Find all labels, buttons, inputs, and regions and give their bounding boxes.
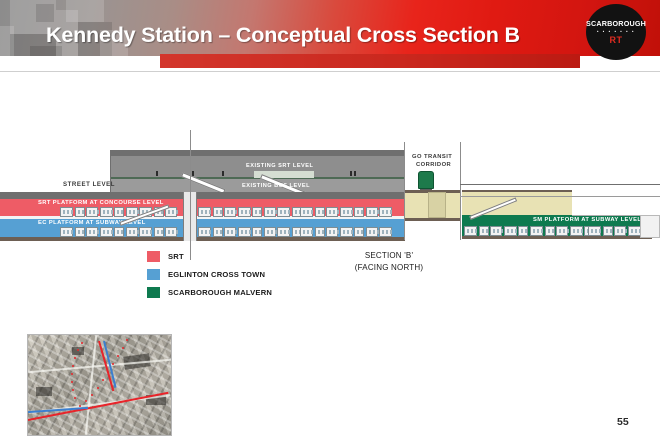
train-car [154,227,164,237]
person-figure [156,171,158,176]
logo-wordmark: SCARBOROUGH [586,19,646,28]
train-car [252,227,262,237]
train-car [326,207,338,217]
person-figure [350,171,352,176]
sm-platform-label: SM PLATFORM AT SUBWAY LEVEL [533,217,641,223]
train-car [139,227,152,237]
legend-swatch-eglinton-cross-town [147,269,160,280]
train-car [366,207,378,217]
train-car [75,207,85,217]
banner-block-4 [36,4,54,22]
person-figure [222,171,224,176]
train-car [628,226,641,236]
right-grade-line [460,184,660,185]
existing-bus-level-label: EXISTING BUS LEVEL [242,183,310,189]
train-car [340,207,353,217]
train-car [213,227,223,237]
train-car [277,227,290,237]
train-car [588,226,601,236]
train-car [224,207,236,217]
existing-srt-level-label: EXISTING SRT LEVEL [246,163,313,169]
legend-swatch-srt [147,251,160,262]
train-car [114,207,124,217]
go-corridor-base [405,218,460,221]
train-car [114,227,124,237]
train-car [100,207,113,217]
train-car [354,227,364,237]
train-car [75,227,85,237]
legend-swatch-scarborough-malvern [147,287,160,298]
street-level-label: STREET LEVEL [63,181,115,188]
train-car [126,227,138,237]
legend-label-srt: SRT [168,252,184,261]
section-centerline [190,130,191,260]
train-car [60,207,73,217]
train-car [165,227,177,237]
legend: SRT EGLINTON CROSS TOWN SCARBOROUGH MALV… [147,249,272,303]
logo-dots-icon: • • • • • • • [597,29,635,34]
go-corridor-right-edge [460,142,461,240]
scarborough-rt-logo: SCARBOROUGH • • • • • • • RT [586,4,646,60]
train-car [300,207,313,217]
train-car [614,226,626,236]
cross-section-diagram: EXISTING SRT LEVEL EXISTING BUS LEVEL ST… [0,130,660,250]
legend-item-eglinton-cross-town: EGLINTON CROSS TOWN [147,267,272,282]
train-car [479,226,489,236]
train-car [315,207,325,217]
train-car [545,226,555,236]
train-car [518,226,528,236]
train-car [264,207,276,217]
train-car [238,207,251,217]
go-corridor-stair [428,192,446,218]
logo-rt-text: RT [610,35,623,45]
srt-platform-label: SRT PLATFORM AT CONCOURSE LEVEL [38,200,164,206]
train-car [556,226,568,236]
train-car [198,207,211,217]
header-banner: Kennedy Station – Conceptual Cross Secti… [0,0,660,68]
legend-item-srt: SRT [147,249,272,264]
train-car [603,226,613,236]
train-car [198,227,211,237]
go-transit-corridor-label-line2: CORRIDOR [416,162,451,168]
train-car [86,227,98,237]
section-note: SECTION 'B' (FACING NORTH) [334,250,444,274]
train-car [238,227,251,237]
map-route-dotted [28,335,171,435]
legend-label-scarborough-malvern: SCARBOROUGH MALVERN [168,288,272,297]
person-figure [354,171,356,176]
train-car [60,227,73,237]
train-car [100,227,113,237]
train-car [300,227,313,237]
train-car [490,226,502,236]
train-car [570,226,583,236]
train-car [86,207,98,217]
go-transit-corridor-label-line1: GO TRANSIT [412,154,452,160]
legend-item-scarborough-malvern: SCARBOROUGH MALVERN [147,285,272,300]
train-car [277,207,290,217]
sm-station-top-slab [462,190,572,192]
train-car [213,207,223,217]
go-train-car-icon [418,171,434,189]
train-car [354,207,364,217]
train-car [379,227,392,237]
banner-block-7 [0,26,14,58]
train-car [464,226,477,236]
right-upper-line [460,196,660,197]
page-title: Kennedy Station – Conceptual Cross Secti… [46,23,520,48]
banner-block-5 [66,0,104,22]
aerial-key-map [27,334,172,436]
right-edge-box [640,215,660,238]
train-car [252,207,262,217]
train-car [504,226,517,236]
train-car [379,207,392,217]
legend-label-eglinton-cross-town: EGLINTON CROSS TOWN [168,270,265,279]
train-car [264,227,276,237]
train-car [315,227,325,237]
train-car [366,227,378,237]
upper-roof-slab [110,150,405,156]
page-number: 55 [617,416,629,428]
subway-base-slab [0,237,405,241]
section-note-line2: (FACING NORTH) [334,262,444,274]
header-hairline [0,71,660,72]
section-note-line1: SECTION 'B' [334,250,444,262]
sm-base-slab [462,236,652,239]
train-car [326,227,338,237]
train-car [224,227,236,237]
train-car [340,227,353,237]
banner-red-strip [160,54,580,68]
train-car [530,226,543,236]
street-level-slab [0,192,410,199]
